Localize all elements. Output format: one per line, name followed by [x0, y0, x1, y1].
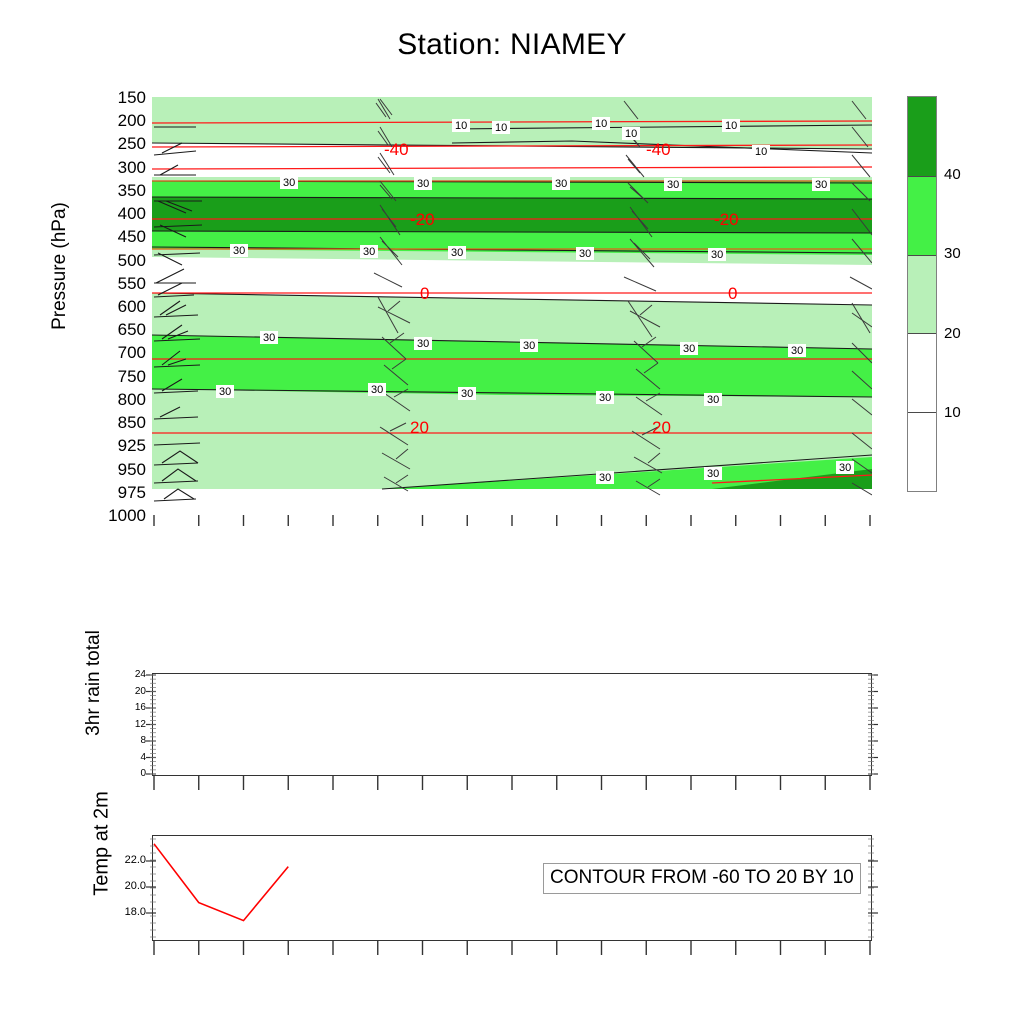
- svg-text:30: 30: [461, 388, 473, 400]
- svg-text:30: 30: [711, 249, 723, 261]
- colorbar-tick-label: 20: [944, 326, 961, 341]
- colorbar-band: [908, 176, 936, 255]
- main-y-tick: 950: [86, 461, 146, 478]
- colorbar-tick-label: 30: [944, 246, 961, 261]
- svg-text:30: 30: [263, 332, 275, 344]
- colorbar-band: [908, 333, 936, 412]
- svg-text:20: 20: [410, 418, 429, 437]
- svg-text:30: 30: [683, 343, 695, 355]
- main-y-tick-labels: 1502002503003504004505005506006507007508…: [84, 97, 146, 515]
- colorbar-tick-label: 10: [944, 405, 961, 420]
- svg-text:30: 30: [791, 345, 803, 357]
- svg-text:0: 0: [420, 284, 429, 303]
- main-y-tick: 975: [86, 484, 146, 501]
- svg-text:30: 30: [667, 179, 679, 191]
- main-y-tick: 200: [86, 112, 146, 129]
- svg-text:30: 30: [219, 386, 231, 398]
- main-y-tick: 350: [86, 182, 146, 199]
- svg-text:30: 30: [233, 245, 245, 257]
- svg-text:30: 30: [417, 338, 429, 350]
- svg-text:30: 30: [555, 178, 567, 190]
- svg-text:30: 30: [815, 179, 827, 191]
- main-y-tick: 800: [86, 391, 146, 408]
- colorbar-band: [908, 97, 936, 176]
- main-y-tick: 700: [86, 344, 146, 361]
- main-y-tick: 650: [86, 321, 146, 338]
- main-y-tick: 450: [86, 228, 146, 245]
- svg-text:30: 30: [839, 462, 851, 474]
- temp-axis-svg: [112, 835, 912, 965]
- svg-text:30: 30: [707, 468, 719, 480]
- svg-text:30: 30: [451, 247, 463, 259]
- svg-text:-20: -20: [410, 210, 435, 229]
- svg-text:10: 10: [725, 120, 737, 132]
- svg-text:10: 10: [755, 146, 767, 158]
- svg-text:-40: -40: [646, 140, 671, 159]
- main-y-tick: 750: [86, 368, 146, 385]
- main-y-tick: 250: [86, 135, 146, 152]
- main-y-tick: 300: [86, 159, 146, 176]
- svg-text:-40: -40: [384, 140, 409, 159]
- colorbar[interactable]: [907, 96, 937, 492]
- svg-text:10: 10: [625, 128, 637, 140]
- main-y-tick: 500: [86, 252, 146, 269]
- svg-text:10: 10: [495, 122, 507, 134]
- svg-text:30: 30: [579, 248, 591, 260]
- svg-text:-20: -20: [714, 210, 739, 229]
- svg-text:30: 30: [283, 177, 295, 189]
- svg-text:30: 30: [371, 384, 383, 396]
- main-y-tick: 850: [86, 414, 146, 431]
- temp-series-line: [154, 844, 288, 921]
- main-y-tick: 1000: [86, 507, 146, 524]
- svg-text:30: 30: [417, 178, 429, 190]
- colorbar-tick-label: 40: [944, 167, 961, 182]
- svg-text:10: 10: [595, 118, 607, 130]
- svg-text:20: 20: [652, 418, 671, 437]
- main-x-axis-ticks: [152, 515, 872, 527]
- page-title: Station: NIAMEY: [0, 28, 1024, 62]
- sounding-contour-svg: 10 10 10 10 10 10 30 30 30 30 30 30 30 3…: [152, 97, 872, 515]
- svg-text:30: 30: [523, 340, 535, 352]
- main-y-tick: 550: [86, 275, 146, 292]
- colorbar-band: [908, 255, 936, 334]
- svg-text:30: 30: [707, 394, 719, 406]
- main-y-tick: 925: [86, 437, 146, 454]
- svg-text:30: 30: [363, 246, 375, 258]
- svg-text:30: 30: [599, 472, 611, 484]
- colorbar-labels: 40302010: [944, 96, 1004, 492]
- main-y-axis-label: Pressure (hPa): [49, 166, 71, 366]
- svg-text:10: 10: [455, 120, 467, 132]
- rain-axis-svg: [112, 673, 912, 798]
- contour-annotation: CONTOUR FROM -60 TO 20 BY 10: [543, 863, 861, 894]
- main-y-tick: 400: [86, 205, 146, 222]
- main-y-tick: 600: [86, 298, 146, 315]
- colorbar-band: [908, 412, 936, 491]
- svg-text:0: 0: [728, 284, 737, 303]
- main-y-tick: 150: [86, 89, 146, 106]
- svg-text:30: 30: [599, 392, 611, 404]
